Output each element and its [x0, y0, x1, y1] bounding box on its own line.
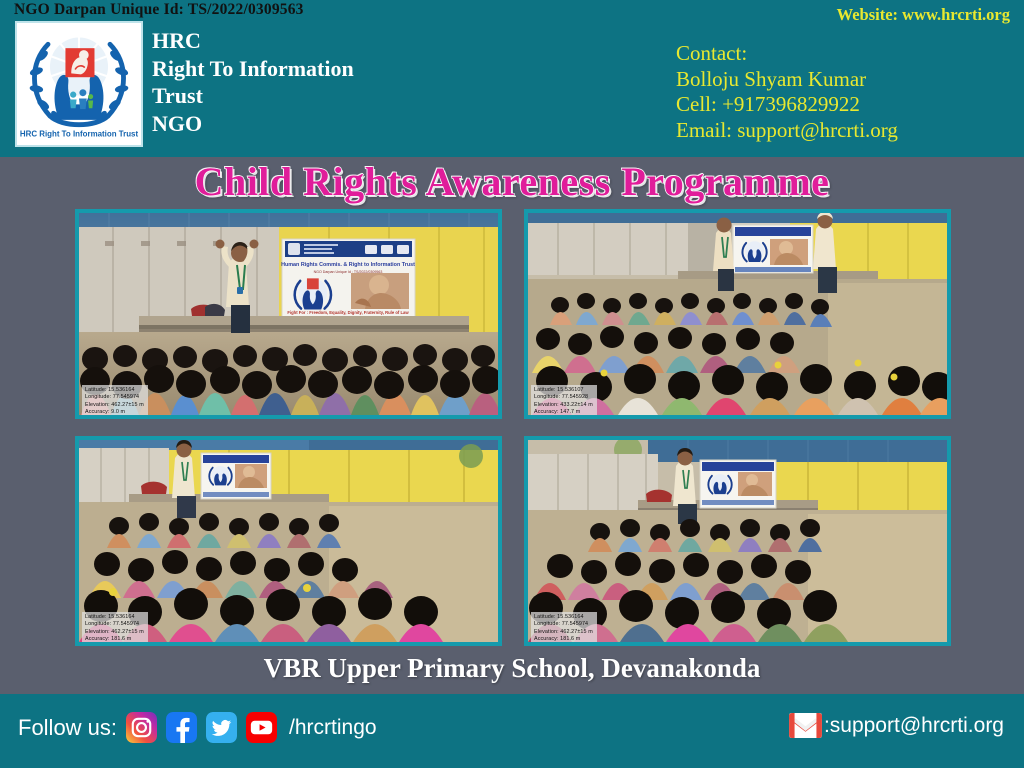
gps-longitude: Longitude: 77.545974	[85, 621, 144, 628]
gps-stamp: Latitude: 15.536107 Longitude: 77.545928…	[531, 385, 597, 419]
gps-elevation: Elevation: 433.22±14 m	[534, 402, 593, 409]
gps-stamp: Latitude: 15.536164 Longitude: 77.545974…	[82, 612, 148, 646]
photo-card-1[interactable]: Human Rights Commis. & Right to Informat…	[75, 209, 502, 419]
hrc-logo: HRC Right To Information Trust	[15, 21, 143, 147]
title-area: Child Rights Awareness Programme	[0, 160, 1024, 204]
gps-stamp: Latitude: 15.536164 Longitude: 77.545974…	[531, 612, 597, 646]
gps-accuracy: Accuracy: 181.6 m	[534, 636, 593, 643]
website-link[interactable]: Website: www.hrcrti.org	[837, 5, 1010, 25]
gps-latitude: Latitude: 15.536107	[534, 387, 593, 394]
page-title: Child Rights Awareness Programme	[195, 160, 830, 204]
org-name: HRC Right To Information Trust NGO	[152, 27, 354, 137]
ngo-darpan-id: NGO Darpan Unique Id: TS/2022/0309563	[14, 1, 304, 19]
venue-caption: VBR Upper Primary School, Devanakonda	[0, 653, 1024, 684]
youtube-icon[interactable]	[246, 712, 277, 743]
org-name-line-4: NGO	[152, 110, 354, 138]
gps-elevation: Elevation: 462.27±15 m	[85, 629, 144, 636]
gps-accuracy: Accuracy: 147.7 m	[534, 409, 593, 416]
gps-accuracy: Accuracy: 181.6 m	[85, 636, 144, 643]
gps-latitude: Latitude: 15.536164	[85, 614, 144, 621]
gps-accuracy: Accuracy: 9.0 m	[85, 409, 144, 416]
photo-card-3[interactable]: Latitude: 15.536164 Longitude: 77.545974…	[75, 436, 502, 646]
gps-latitude: Latitude: 15.536164	[534, 614, 593, 621]
contact-block: Contact: Bolloju Shyam Kumar Cell: +9173…	[676, 41, 898, 143]
instagram-icon[interactable]	[126, 712, 157, 743]
facebook-icon[interactable]	[166, 712, 197, 743]
email-block[interactable]: :support@hrcrti.org	[789, 713, 1004, 738]
gps-stamp: Latitude: 15.536164 Longitude: 77.545974…	[82, 385, 148, 419]
gps-longitude: Longitude: 77.545974	[534, 621, 593, 628]
org-name-line-3: Trust	[152, 82, 354, 110]
follow-us-label: Follow us:	[18, 715, 117, 741]
contact-email[interactable]: Email: support@hrcrti.org	[676, 118, 898, 144]
gps-elevation: Elevation: 462.27±15 m	[85, 402, 144, 409]
photo-card-4[interactable]: Latitude: 15.536164 Longitude: 77.545974…	[524, 436, 951, 646]
photo-card-2[interactable]: Latitude: 15.536107 Longitude: 77.545928…	[524, 209, 951, 419]
hrc-logo-emblem: HRC Right To Information Trust	[17, 23, 141, 145]
gmail-icon[interactable]	[789, 713, 822, 738]
social-handle[interactable]: /hrcrtingo	[289, 716, 377, 740]
gps-elevation: Elevation: 462.27±15 m	[534, 629, 593, 636]
org-name-line-1: HRC	[152, 27, 354, 55]
twitter-icon[interactable]	[206, 712, 237, 743]
photo-grid: Human Rights Commis. & Right to Informat…	[75, 209, 951, 646]
poster: NGO Darpan Unique Id: TS/2022/0309563	[0, 0, 1024, 768]
footer-bar: Follow us:	[0, 694, 1024, 768]
gps-longitude: Longitude: 77.545974	[85, 394, 144, 401]
gps-longitude: Longitude: 77.545928	[534, 394, 593, 401]
svg-text:Fight For : Freedom, Equality,: Fight For : Freedom, Equality, Dignity, …	[287, 310, 409, 315]
contact-phone[interactable]: Cell: +917396829922	[676, 92, 898, 118]
gps-latitude: Latitude: 15.536164	[85, 387, 144, 394]
follow-us-block: Follow us:	[18, 712, 377, 743]
contact-label: Contact:	[676, 41, 898, 67]
header-bar: NGO Darpan Unique Id: TS/2022/0309563	[0, 0, 1024, 157]
support-email[interactable]: :support@hrcrti.org	[824, 714, 1004, 738]
org-name-line-2: Right To Information	[152, 55, 354, 83]
contact-person: Bolloju Shyam Kumar	[676, 67, 898, 93]
svg-text:HRC Right To Information Trust: HRC Right To Information Trust	[20, 129, 139, 138]
svg-text:Human Rights Commis. & Right t: Human Rights Commis. & Right to Informat…	[281, 262, 415, 268]
